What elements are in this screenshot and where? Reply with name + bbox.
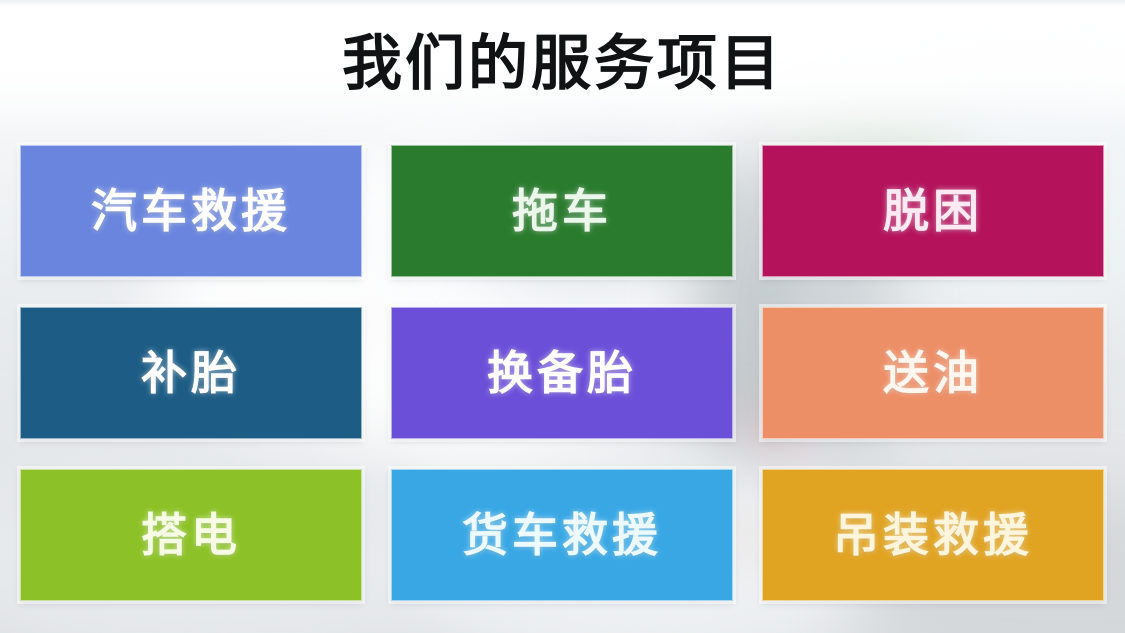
service-tile-grid: 汽车救援拖车脱困补胎换备胎送油搭电货车救援吊装救援 [20, 145, 1104, 601]
service-tile-label: 送油 [883, 350, 983, 396]
service-tile-label: 脱困 [883, 188, 983, 234]
page-title-text: 我们的服务项目 [342, 34, 783, 94]
service-tile-label: 吊装救援 [833, 512, 1033, 558]
service-tile-label: 补胎 [141, 350, 241, 396]
service-tile-tire-repair[interactable]: 补胎 [20, 307, 362, 439]
service-tile-label: 货车救援 [462, 512, 662, 558]
service-poster: 我们的服务项目 汽车救援拖车脱困补胎换备胎送油搭电货车救援吊装救援 [0, 0, 1125, 633]
service-tile-label: 换备胎 [487, 350, 637, 396]
service-tile-crane-rescue[interactable]: 吊装救援 [762, 469, 1104, 601]
page-title: 我们的服务项目 [0, 16, 1125, 112]
top-edge-strip [0, 0, 1125, 6]
service-tile-fuel-delivery[interactable]: 送油 [762, 307, 1104, 439]
service-tile-truck-rescue[interactable]: 货车救援 [391, 469, 733, 601]
service-tile-label: 拖车 [512, 188, 612, 234]
service-tile-jump-start[interactable]: 搭电 [20, 469, 362, 601]
service-tile-extrication[interactable]: 脱困 [762, 145, 1104, 277]
service-tile-towing[interactable]: 拖车 [391, 145, 733, 277]
service-tile-car-rescue[interactable]: 汽车救援 [20, 145, 362, 277]
service-tile-label: 搭电 [141, 512, 241, 558]
service-tile-label: 汽车救援 [91, 188, 291, 234]
service-tile-spare-tire[interactable]: 换备胎 [391, 307, 733, 439]
